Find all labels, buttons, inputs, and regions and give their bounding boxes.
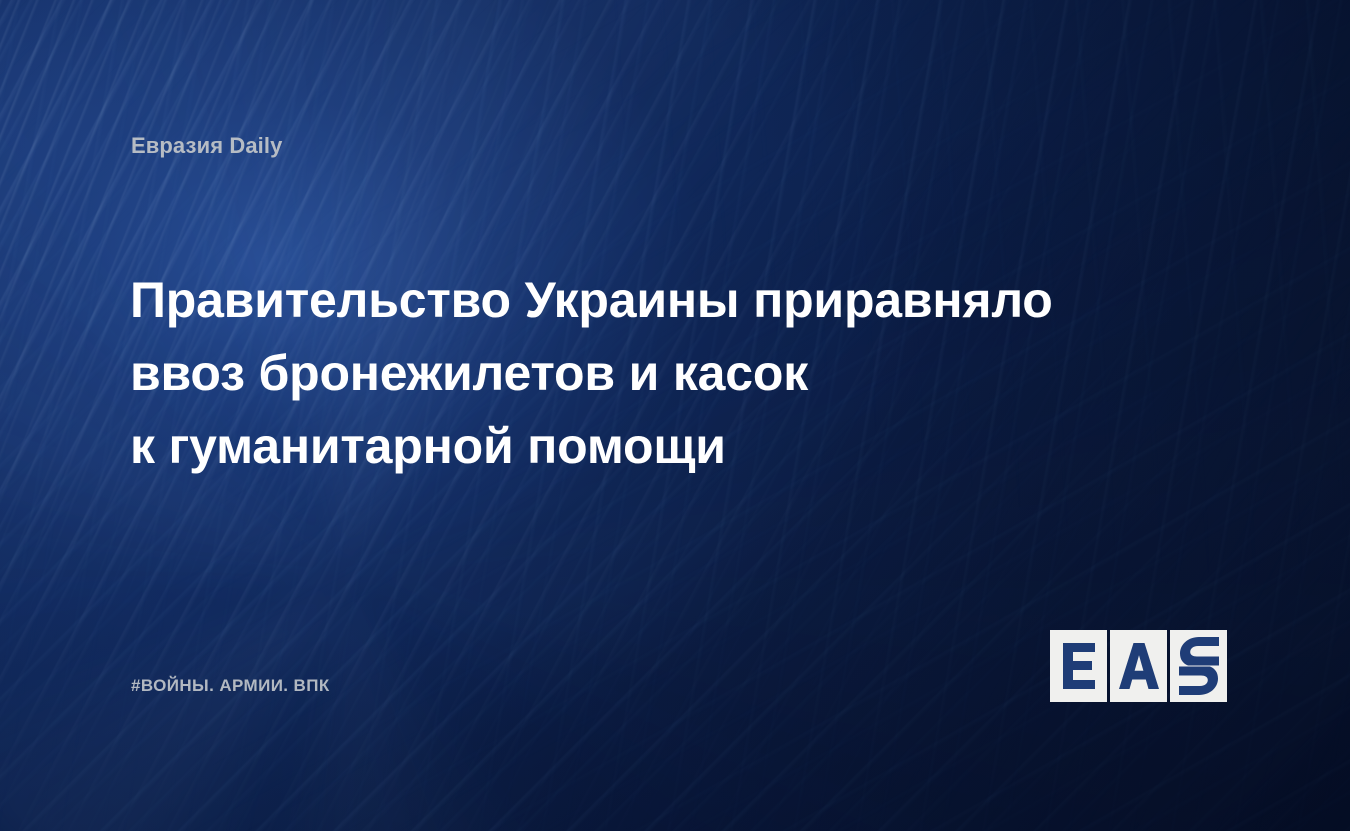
logo-tile-a bbox=[1110, 630, 1167, 702]
page-title: Правительство Украины приравняло ввоз бр… bbox=[130, 264, 1170, 483]
eadaily-logo bbox=[1050, 630, 1227, 702]
letter-d-icon bbox=[1177, 636, 1221, 696]
headline-line-3: к гуманитарной помощи bbox=[130, 410, 1170, 483]
headline-line-1: Правительство Украины приравняло bbox=[130, 264, 1170, 337]
brand-name: Евразия Daily bbox=[131, 133, 282, 159]
category-hashtag: #ВОЙНЫ. АРМИИ. ВПК bbox=[131, 676, 330, 696]
card-content: Евразия Daily Правительство Украины прир… bbox=[0, 0, 1350, 831]
letter-a-icon bbox=[1117, 641, 1161, 691]
logo-tile-d bbox=[1170, 630, 1227, 702]
letter-e-icon bbox=[1059, 641, 1099, 691]
headline-line-2: ввоз бронежилетов и касок bbox=[130, 337, 1170, 410]
share-card: Евразия Daily Правительство Украины прир… bbox=[0, 0, 1350, 831]
logo-tile-e bbox=[1050, 630, 1107, 702]
